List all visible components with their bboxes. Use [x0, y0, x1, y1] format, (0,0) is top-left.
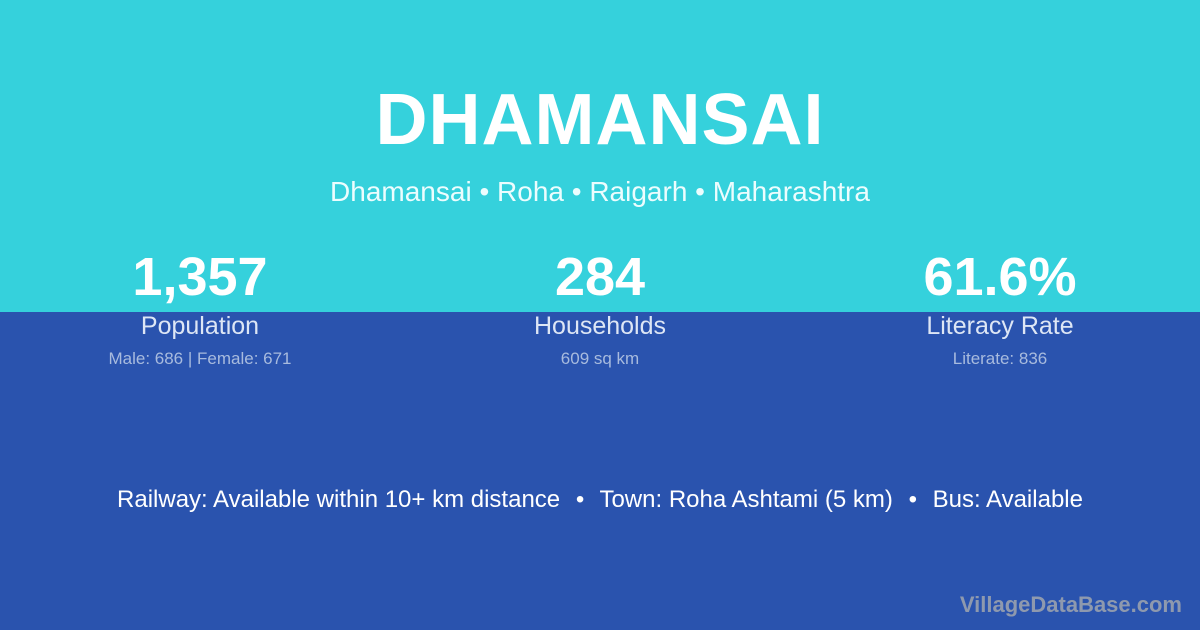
stat-households: 284 Households 609 sq km	[400, 246, 800, 369]
stat-value-population: 1,357	[0, 246, 400, 308]
stat-label-literacy-rate: Literacy Rate	[800, 312, 1200, 340]
stat-value-households: 284	[400, 246, 800, 308]
site-watermark: VillageDataBase.com	[960, 592, 1182, 618]
info-bus: Bus: Available	[933, 486, 1083, 513]
stat-value-literacy-rate: 61.6%	[800, 246, 1200, 308]
stats-row: 1,357 Population Male: 686 | Female: 671…	[0, 246, 1200, 369]
connectivity-info-line: Railway: Available within 10+ km distanc…	[0, 484, 1200, 516]
breadcrumb: Dhamansai • Roha • Raigarh • Maharashtra	[0, 178, 1200, 206]
stat-literacy-rate: 61.6% Literacy Rate Literate: 836	[800, 246, 1200, 369]
stat-sub-population: Male: 686 | Female: 671	[0, 349, 400, 369]
card-header: DHAMANSAI Dhamansai • Roha • Raigarh • M…	[0, 0, 1200, 206]
page-title: DHAMANSAI	[0, 84, 1200, 156]
village-info-card: DHAMANSAI Dhamansai • Roha • Raigarh • M…	[0, 0, 1200, 630]
info-separator-bullet-2: •	[900, 484, 926, 516]
info-separator-bullet-1: •	[567, 484, 593, 516]
stat-population: 1,357 Population Male: 686 | Female: 671	[0, 246, 400, 369]
stat-sub-households: 609 sq km	[400, 349, 800, 369]
stat-sub-literacy-rate: Literate: 836	[800, 349, 1200, 369]
info-town: Town: Roha Ashtami (5 km)	[599, 486, 892, 513]
stat-label-households: Households	[400, 312, 800, 340]
stat-label-population: Population	[0, 312, 400, 340]
info-railway: Railway: Available within 10+ km distanc…	[117, 486, 560, 513]
